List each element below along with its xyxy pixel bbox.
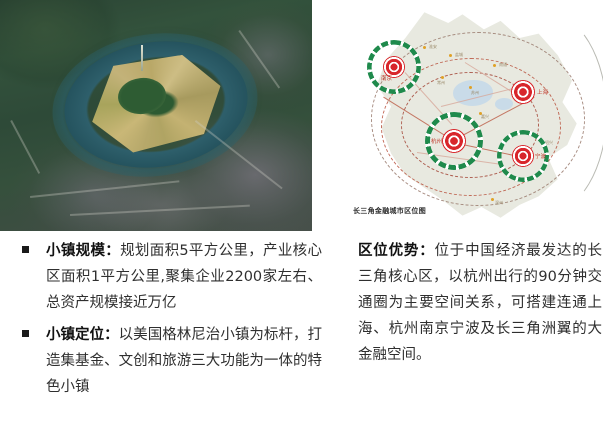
paragraph-lead: 区位优势： (358, 243, 435, 259)
bullseye-icon (511, 80, 535, 104)
bullseye-icon (512, 145, 534, 167)
minor-city-dot (449, 54, 452, 57)
paragraph-text: 位于中国经济最发达的长三角核心区，以杭州出行的90分钟交通圈为主要空间关系，可搭… (358, 243, 602, 363)
minor-city-dot (491, 198, 494, 201)
map-node-label: 南京 (381, 74, 392, 82)
map-node-label: 杭州 (431, 137, 442, 145)
list-item: 小镇规模：规划面积5平方公里，产业核心区面积1平方公里,聚集企业2200家左右、… (22, 238, 322, 316)
media-row: 淮安 盐城 南通 常州 苏州 嘉兴 绍兴 温州 南京 上海 杭州 (0, 0, 612, 232)
map-caption: 长三角金融城市区位图 (353, 206, 426, 216)
text-area: 小镇规模：规划面积5平方公里，产业核心区面积1平方公里,聚集企业2200家左右、… (0, 238, 612, 423)
square-bullet-icon (22, 330, 29, 337)
central-tower (141, 45, 143, 71)
minor-city-dot (423, 46, 426, 49)
bullet-paragraph: 小镇规模：规划面积5平方公里，产业核心区面积1平方公里,聚集企业2200家左右、… (46, 238, 322, 316)
minor-city-label: 淮安 (429, 44, 437, 50)
right-text-column: 区位优势：位于中国经济最发达的长三角核心区，以杭州出行的90分钟交通圈为主要空间… (358, 238, 602, 368)
minor-city-label: 苏州 (471, 90, 479, 96)
bullet-lead: 小镇规模： (46, 243, 120, 259)
minor-city-dot (469, 86, 472, 89)
aerial-photo-of-hexagonal-island-town (0, 0, 312, 231)
map-node-label: 上海 (537, 88, 548, 96)
bullet-lead: 小镇定位： (46, 327, 119, 343)
bullet-body: 小镇定位：以美国格林尼治小镇为标杆，打造集基金、文创和旅游三大功能为一体的特色小… (46, 322, 322, 400)
minor-city-label: 温州 (495, 200, 503, 206)
square-bullet-icon (22, 246, 29, 253)
minor-city-dot (493, 64, 496, 67)
yangtze-delta-finance-map: 淮安 盐城 南通 常州 苏州 嘉兴 绍兴 温州 南京 上海 杭州 (345, 2, 603, 230)
minor-city-label: 嘉兴 (481, 114, 489, 120)
bullet-paragraph: 小镇定位：以美国格林尼治小镇为标杆，打造集基金、文创和旅游三大功能为一体的特色小… (46, 322, 322, 400)
bullet-body: 小镇规模：规划面积5平方公里，产业核心区面积1平方公里,聚集企业2200家左右、… (46, 238, 322, 316)
bullseye-icon (442, 129, 466, 153)
location-advantage-paragraph: 区位优势：位于中国经济最发达的长三角核心区，以杭州出行的90分钟交通圈为主要空间… (358, 238, 602, 368)
minor-city-dot (441, 76, 444, 79)
left-text-column: 小镇规模：规划面积5平方公里，产业核心区面积1平方公里,聚集企业2200家左右、… (22, 238, 322, 406)
minor-city-label: 常州 (437, 80, 445, 86)
map-node-label: 宁波 (535, 152, 546, 160)
minor-city-label: 盐城 (455, 52, 463, 58)
list-item: 小镇定位：以美国格林尼治小镇为标杆，打造集基金、文创和旅游三大功能为一体的特色小… (22, 322, 322, 400)
minor-city-label: 南通 (499, 62, 507, 68)
